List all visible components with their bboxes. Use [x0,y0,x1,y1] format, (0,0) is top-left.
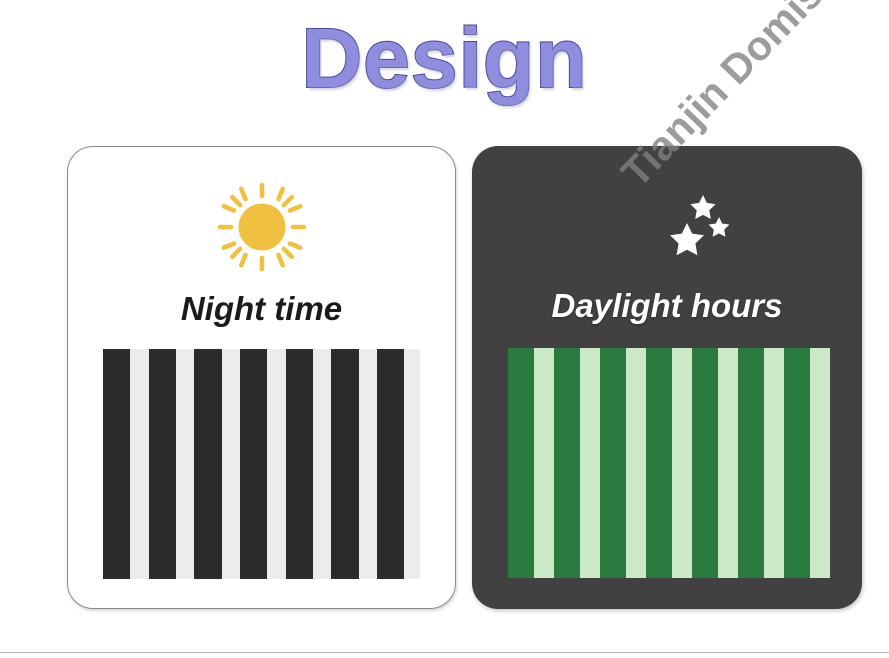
card-daylight-hours[interactable]: Daylight hours [472,146,862,609]
stripe-glight [672,348,692,578]
night-stripe-pattern [103,349,420,579]
card-daylight-caption: Daylight hours [472,286,862,326]
stripe-light [404,349,420,579]
stripe-light [130,349,148,579]
stripe-gdark [784,348,810,578]
sun-icon [214,179,310,275]
stripe-dark [240,349,267,579]
stripe-gdark [508,348,534,578]
card-night-time[interactable]: Night time [67,146,456,609]
star-icon-right [709,217,729,237]
stripe-glight [718,348,738,578]
slide-canvas: Design [0,0,889,658]
crescent-moon-icon [625,179,669,267]
stripe-glight [580,348,600,578]
daylight-stripe-pattern [508,348,830,578]
stripe-glight [626,348,646,578]
stripe-dark [194,349,221,579]
stripe-dark [103,349,130,579]
stripe-gdark [646,348,672,578]
stripe-light [359,349,377,579]
stripe-gdark [554,348,580,578]
stripe-light [313,349,331,579]
bottom-divider [0,652,889,653]
stripe-dark [149,349,176,579]
stripe-glight [764,348,784,578]
moon-icon-container [472,168,862,278]
stripe-glight [810,348,830,578]
sun-icon-container [68,175,455,279]
stripe-gdark [738,348,764,578]
star-icon-large [670,223,704,255]
stripe-gdark [600,348,626,578]
stripe-dark [331,349,358,579]
stripe-light [176,349,194,579]
moon-stars-icon [605,173,729,273]
stripe-light [267,349,285,579]
night-stripe-row [103,349,420,579]
stripe-light [222,349,240,579]
stripe-gdark [692,348,718,578]
stripe-glight [534,348,554,578]
page-title: Design [0,8,889,108]
stripe-dark [377,349,404,579]
daylight-stripe-row [508,348,830,578]
stripe-dark [286,349,313,579]
card-night-caption: Night time [68,289,455,329]
star-icon-top [690,195,715,219]
